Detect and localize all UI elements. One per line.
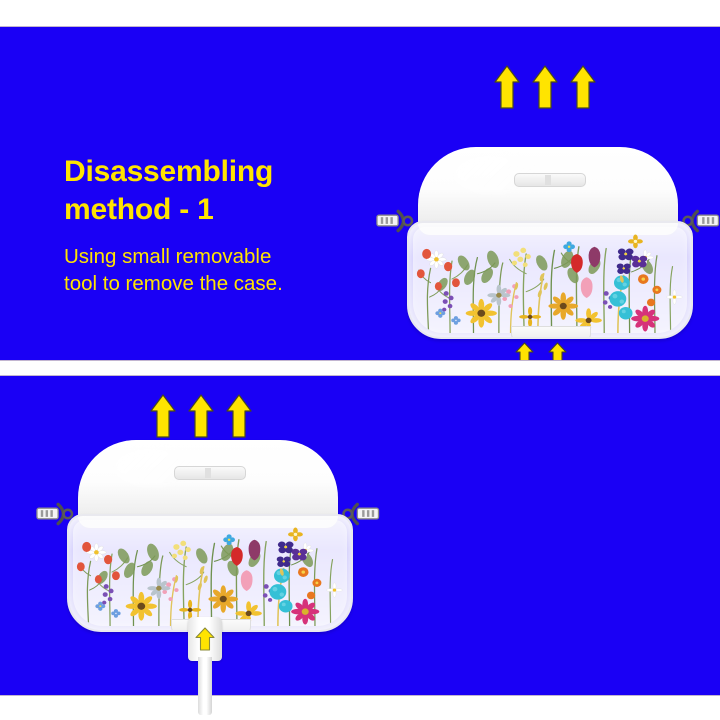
up-arrow-icon [150,394,176,438]
divider-hairline-top [0,360,720,361]
airpods-case-product-image [60,440,356,640]
method-1-subline: Using small removable tool to remove the… [64,243,364,298]
bottom-white-band [0,695,720,720]
panel-method-1: Disassembling method - 1 Using small rem… [0,27,720,360]
lid-tab [514,173,586,186]
cable-cord [198,657,212,715]
floral-pattern-artwork [73,520,346,626]
up-arrow-icon [226,394,252,438]
top-white-band [0,0,720,27]
case-clear-shell [67,514,352,632]
method-1-text-block: Disassembling method - 1 Using small rem… [64,153,364,297]
up-arrow-icon-small [195,627,215,651]
up-arrow-icon [188,394,214,438]
panel-method-2: Disassembling method - 2 Using charging … [0,376,720,695]
up-arrow-icon [532,65,558,109]
cable-connector-head [188,617,222,661]
charging-cable [188,617,222,707]
lid-tab [174,466,246,479]
case-clear-shell [407,221,692,339]
panel-divider-band [0,360,720,376]
case-shell-inner [413,227,686,333]
up-arrow-icon [494,65,520,109]
case-bottom-flap [511,326,592,339]
up-arrow-icon [570,65,596,109]
case-shell-inner [73,520,346,626]
bottom-hairline [0,695,720,696]
airpods-case-product-image [400,147,696,347]
method-1-headline: Disassembling method - 1 [64,153,364,229]
floral-pattern-artwork [413,227,686,333]
product-infographic: Disassembling method - 1 Using small rem… [0,0,720,720]
